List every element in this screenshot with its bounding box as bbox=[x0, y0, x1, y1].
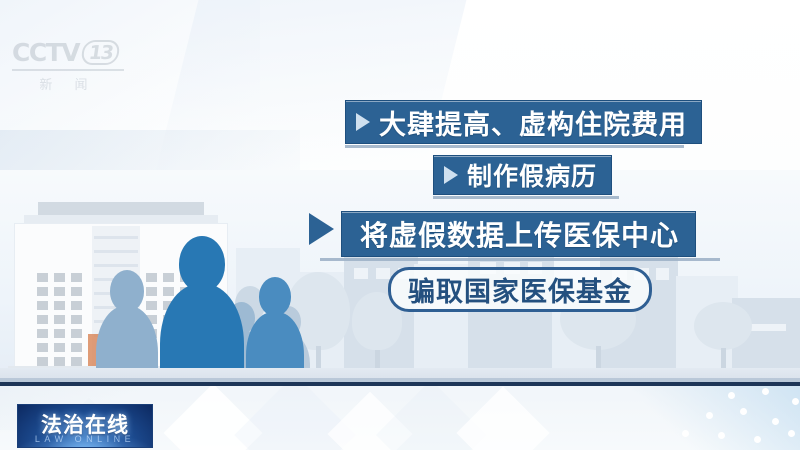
cctv-channel-number: 13 bbox=[80, 40, 121, 65]
banner-4-label: 骗取国家医保基金 bbox=[408, 270, 632, 309]
scene-divider bbox=[0, 382, 800, 386]
banner-1-underline bbox=[345, 145, 684, 148]
banner-defraud-national-medical-insurance-fund[interactable]: 骗取国家医保基金 bbox=[388, 267, 652, 312]
decorative-dot-pattern bbox=[610, 386, 800, 450]
cctv-subtitle: 新 闻 bbox=[12, 74, 124, 93]
banner-2-underline bbox=[433, 196, 619, 199]
banner-3-underline bbox=[320, 258, 720, 261]
banner-upload-false-data-to-insurance-center[interactable]: 将虚假数据上传医保中心 bbox=[341, 211, 696, 257]
cctv-channel-watermark: CCTV 13 新 闻 bbox=[12, 38, 136, 84]
banner-inflate-fabricate-hospital-fees[interactable]: 大肆提高、虚构住院费用 bbox=[345, 100, 702, 144]
broadcast-screen: CCTV 13 新 闻 大肆提高、虚构住院费用 制作假病历 将虚假数据上传医保中… bbox=[0, 0, 800, 450]
triangle-bullet-icon bbox=[356, 113, 370, 131]
cctv-underline bbox=[12, 69, 124, 71]
triangle-pointer-icon bbox=[309, 213, 334, 245]
hospital-roof bbox=[38, 202, 204, 216]
program-logo-title-en: LAW ONLINE bbox=[35, 434, 135, 444]
cctv-wordmark: CCTV 13 bbox=[12, 38, 136, 67]
program-logo: 法治在线 LAW ONLINE bbox=[17, 404, 153, 448]
cctv-network-text: CCTV bbox=[12, 38, 79, 67]
banner-2-label: 制作假病历 bbox=[467, 157, 597, 193]
person-silhouette-foreground bbox=[160, 240, 244, 384]
banner-1-label: 大肆提高、虚构住院费用 bbox=[379, 103, 687, 142]
banner-3-label: 将虚假数据上传医保中心 bbox=[360, 214, 679, 254]
banner-forge-medical-records[interactable]: 制作假病历 bbox=[433, 155, 612, 195]
tree bbox=[694, 302, 752, 368]
triangle-bullet-icon bbox=[444, 166, 458, 184]
